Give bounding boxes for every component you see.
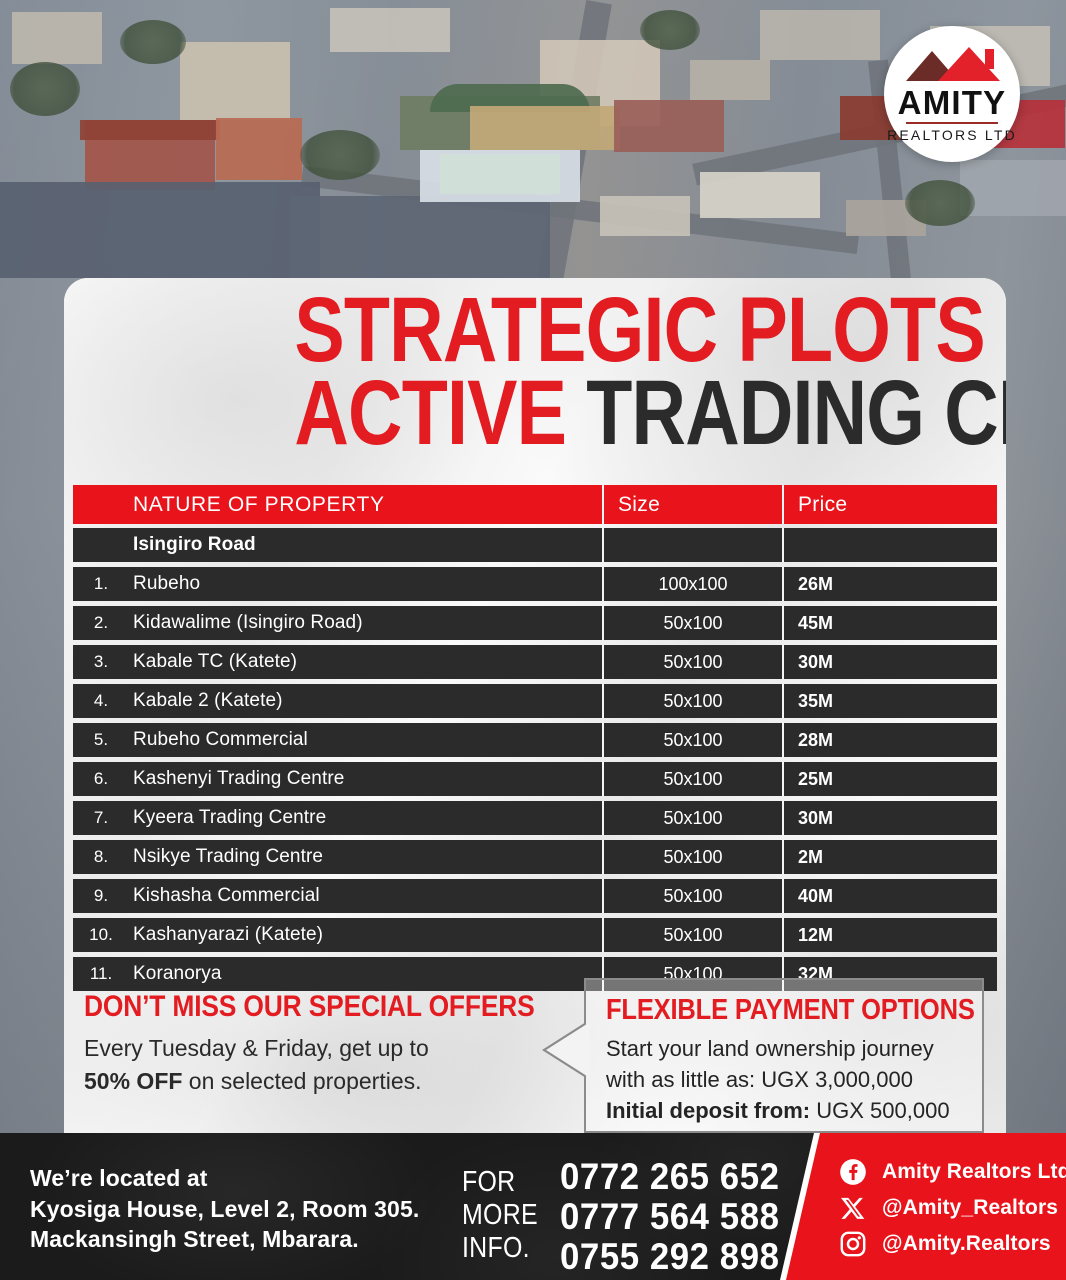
row-price: 45M [782, 606, 997, 640]
row-size: 50x100 [602, 684, 782, 718]
row-number: 8. [73, 847, 129, 867]
table-row: 7. Kyeera Trading Centre 50x100 30M [73, 801, 997, 835]
address-line-2: Kyosiga House, Level 2, Room 305. [30, 1196, 419, 1222]
payment-body: Start your land ownership journey with a… [606, 1034, 966, 1126]
table-row: 5. Rubeho Commercial 50x100 28M [73, 723, 997, 757]
row-property-name: Nsikye Trading Centre [129, 846, 602, 868]
row-number: 2. [73, 613, 129, 633]
special-offers-block: DON’T MISS OUR SPECIAL OFFERS Every Tues… [84, 990, 504, 1097]
facebook-icon [838, 1157, 868, 1187]
social-row-facebook[interactable]: Amity Realtors Ltd [838, 1155, 1066, 1189]
row-property-name: Rubeho Commercial [129, 729, 602, 751]
content-card: STRATEGIC PLOTS IN ACTIVE TRADING CENTRE… [64, 278, 1006, 1140]
table-row: 2. Kidawalime (Isingiro Road) 50x100 45M [73, 606, 997, 640]
table-header-row: NATURE OF PROPERTY Size Price [73, 485, 997, 524]
row-number: 11. [73, 964, 129, 984]
row-price: 26M [782, 567, 997, 601]
headline-trading-centres: TRADING CENTRES. [566, 362, 1006, 464]
table-row: 4. Kabale 2 (Katete) 50x100 35M [73, 684, 997, 718]
row-size: 50x100 [602, 645, 782, 679]
contact-phones: FORMOREINFO. 0772 265 652 0777 564 588 0… [462, 1157, 794, 1277]
payment-deposit-value: UGX 500,000 [810, 1098, 949, 1123]
house-roof-icon [904, 47, 1000, 83]
offers-line-2-tail: on selected properties. [182, 1068, 421, 1094]
social-row-x-twitter[interactable]: @Amity_Realtors [838, 1191, 1066, 1225]
row-number: 7. [73, 808, 129, 828]
row-size: 100x100 [602, 567, 782, 601]
row-price: 25M [782, 762, 997, 796]
footer-bar: We’re located at Kyosiga House, Level 2,… [0, 1133, 1066, 1280]
row-price: 40M [782, 879, 997, 913]
table-row: 10. Kashanyarazi (Katete) 50x100 12M [73, 918, 997, 952]
row-number: 1. [73, 574, 129, 594]
instagram-icon [838, 1229, 868, 1259]
row-price: 12M [782, 918, 997, 952]
row-size: 50x100 [602, 723, 782, 757]
row-number: 4. [73, 691, 129, 711]
row-property-name: Rubeho [129, 573, 602, 595]
headline-line-2: ACTIVE TRADING CENTRES. [294, 373, 917, 454]
row-property-name: Kabale 2 (Katete) [129, 690, 602, 712]
payment-deposit-label: Initial deposit from: [606, 1098, 810, 1123]
row-size: 50x100 [602, 762, 782, 796]
table-row: 1. Rubeho 100x100 26M [73, 567, 997, 601]
header-price: Price [782, 485, 997, 524]
row-price: 30M [782, 801, 997, 835]
phone-number[interactable]: 0772 265 652 [560, 1157, 780, 1197]
social-links: Amity Realtors Ltd @Amity_Realtors @Amit… [838, 1155, 1066, 1263]
row-number: 5. [73, 730, 129, 750]
section-label-isingiro-road: Isingiro Road [129, 534, 602, 556]
row-property-name: Kashanyarazi (Katete) [129, 924, 602, 946]
logo-brand-sub: REALTORS LTD [887, 127, 1017, 143]
row-size: 50x100 [602, 918, 782, 952]
row-price: 35M [782, 684, 997, 718]
table-row: 9. Kishasha Commercial 50x100 40M [73, 879, 997, 913]
row-property-name: Kabale TC (Katete) [129, 651, 602, 673]
header-nature-of-property: NATURE OF PROPERTY [129, 493, 602, 517]
amity-logo: AMITY REALTORS LTD [884, 26, 1020, 162]
address-line-1: We’re located at [30, 1165, 208, 1191]
page-title: STRATEGIC PLOTS IN ACTIVE TRADING CENTRE… [226, 290, 986, 454]
special-offers-body: Every Tuesday & Friday, get up to 50% OF… [84, 1032, 504, 1097]
property-table: NATURE OF PROPERTY Size Price Isingiro R… [73, 485, 997, 996]
payment-line-2: with as little as: UGX 3,000,000 [606, 1067, 913, 1092]
header-size: Size [602, 485, 782, 524]
phone-number[interactable]: 0755 292 898 [560, 1237, 780, 1277]
row-number: 9. [73, 886, 129, 906]
payment-title: FLEXIBLE PAYMENT OPTIONS [606, 994, 923, 1027]
offers-discount: 50% OFF [84, 1068, 182, 1094]
row-number: 6. [73, 769, 129, 789]
address-line-3: Mackansingh Street, Mbarara. [30, 1226, 359, 1252]
section-price-empty [782, 528, 997, 562]
row-price: 30M [782, 645, 997, 679]
row-property-name: Koranorya [129, 963, 602, 985]
table-row: 6. Kashenyi Trading Centre 50x100 25M [73, 762, 997, 796]
payment-line-1: Start your land ownership journey [606, 1036, 934, 1061]
row-size: 50x100 [602, 879, 782, 913]
table-section-row: Isingiro Road [73, 528, 997, 562]
row-number: 10. [73, 925, 129, 945]
logo-divider [906, 122, 998, 124]
row-property-name: Kishasha Commercial [129, 885, 602, 907]
social-label: @Amity.Realtors [882, 1232, 1051, 1256]
social-label: Amity Realtors Ltd [882, 1160, 1066, 1184]
headline-line-1: STRATEGIC PLOTS IN [294, 290, 917, 371]
poster: AMITY REALTORS LTD STRATEGIC PLOTS IN AC… [0, 0, 1066, 1280]
row-price: 28M [782, 723, 997, 757]
headline-active-word: ACTIVE [294, 362, 566, 464]
row-price: 2M [782, 840, 997, 874]
x-twitter-icon [838, 1193, 868, 1223]
row-size: 50x100 [602, 840, 782, 874]
logo-brand-name: AMITY [898, 86, 1007, 119]
flexible-payment-callout: FLEXIBLE PAYMENT OPTIONS Start your land… [584, 978, 984, 1133]
row-property-name: Kidawalime (Isingiro Road) [129, 612, 602, 634]
row-size: 50x100 [602, 606, 782, 640]
phone-number-list: 0772 265 652 0777 564 588 0755 292 898 [560, 1157, 794, 1277]
table-row: 3. Kabale TC (Katete) 50x100 30M [73, 645, 997, 679]
special-offers-title: DON’T MISS OUR SPECIAL OFFERS [84, 990, 454, 1024]
row-size: 50x100 [602, 801, 782, 835]
row-property-name: Kyeera Trading Centre [129, 807, 602, 829]
table-row: 8. Nsikye Trading Centre 50x100 2M [73, 840, 997, 874]
section-size-empty [602, 528, 782, 562]
offers-line-1: Every Tuesday & Friday, get up to [84, 1035, 429, 1061]
social-label: @Amity_Realtors [882, 1196, 1058, 1220]
phone-number[interactable]: 0777 564 588 [560, 1197, 780, 1237]
for-more-info-label: FORMOREINFO. [462, 1157, 538, 1277]
office-address: We’re located at Kyosiga House, Level 2,… [30, 1163, 419, 1255]
row-property-name: Kashenyi Trading Centre [129, 768, 602, 790]
row-number: 3. [73, 652, 129, 672]
social-row-instagram[interactable]: @Amity.Realtors [838, 1227, 1066, 1261]
